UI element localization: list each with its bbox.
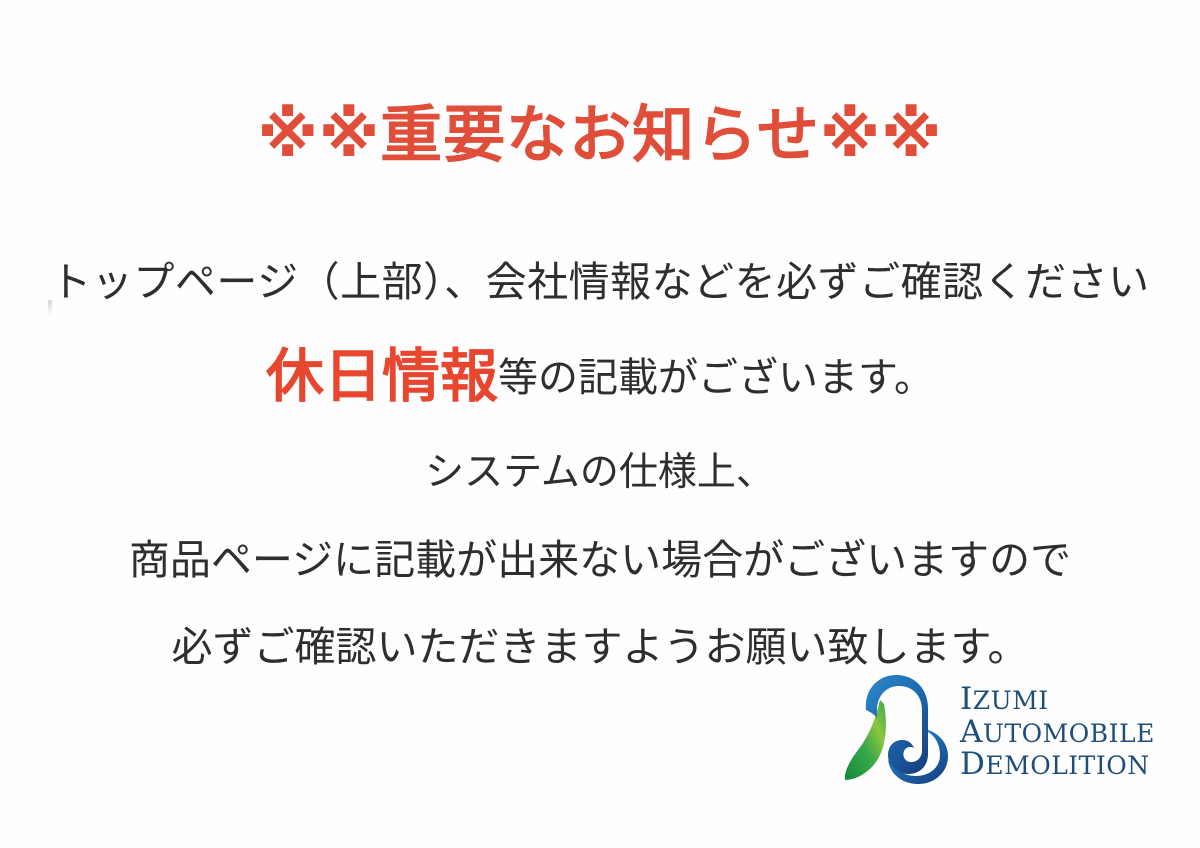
notice-line-5: 必ずご確認いただきますようお願い致します。 (0, 627, 1200, 668)
notice-document: ※※重要なお知らせ※※ トップページ（上部）、会社情報などを必ずご確認ください … (0, 0, 1200, 848)
logo-word-demolition: DEMOLITION (960, 748, 1155, 781)
logo-word-automobile-cap: A (960, 714, 983, 750)
logo-word-izumi-rest: ZUMI (973, 686, 1049, 715)
notice-line-2: 休日情報等の記載がございます。 (0, 347, 1200, 453)
logo-wordmark: IZUMI AUTOMOBILE DEMOLITION (960, 683, 1155, 782)
logo-word-izumi-cap: I (960, 681, 973, 717)
logo-word-demolition-rest: EMOLITION (985, 751, 1149, 780)
page-title: ※※重要なお知らせ※※ (0, 104, 1200, 166)
notice-line-3: システムの仕様上、 (0, 453, 1200, 540)
logo-word-automobile-rest: UTOMOBILE (983, 719, 1155, 748)
logo-word-automobile: AUTOMOBILE (960, 716, 1155, 749)
company-logo: IZUMI AUTOMOBILE DEMOLITION (836, 668, 1126, 796)
notice-body: トップページ（上部）、会社情報などを必ずご確認ください 休日情報等の記載がござい… (0, 262, 1200, 668)
logo-word-demolition-cap: D (960, 746, 985, 782)
izumi-swirl-leaf-icon (836, 670, 954, 794)
notice-line-2-tail: 等の記載がございます。 (498, 355, 934, 401)
notice-line-1: トップページ（上部）、会社情報などを必ずご確認ください (0, 262, 1200, 347)
holiday-info-emphasis: 休日情報 (266, 342, 498, 410)
logo-word-izumi: IZUMI (960, 683, 1155, 716)
notice-line-4: 商品ページに記載が出来ない場合がございますので (0, 540, 1200, 627)
